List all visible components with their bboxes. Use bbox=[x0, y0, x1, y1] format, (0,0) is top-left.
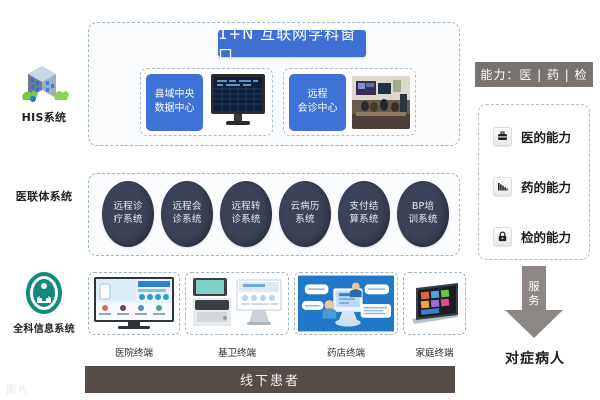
diagram-canvas: HIS系统 医联体系统 全科信息系统 1+N 互联网学科窗口 县域中央 数据中心 bbox=[0, 0, 600, 400]
rail-item-his: HIS系统 bbox=[2, 58, 86, 125]
bar-chart-icon bbox=[493, 177, 512, 196]
kiosk-and-monitor-photo bbox=[189, 276, 285, 332]
hospital-building-icon bbox=[18, 58, 70, 104]
capability-header: 能力：医 | 药 | 检 bbox=[475, 62, 593, 87]
rail-label-alliance: 医联体系统 bbox=[2, 188, 86, 204]
terminal-thumb-hospital[interactable] bbox=[88, 272, 180, 335]
terminal-thumb-primary-care[interactable] bbox=[185, 272, 289, 335]
rail-item-alliance: 医联体系统 bbox=[2, 188, 86, 204]
system-ellipse-6[interactable]: BP培 训系统 bbox=[397, 181, 449, 247]
rail-item-gp: 全科信息系统 bbox=[2, 272, 86, 335]
terminal-label-pharmacy: 药店终端 bbox=[294, 345, 398, 359]
monitor-illustration bbox=[209, 72, 267, 133]
rail-label-his: HIS系统 bbox=[2, 109, 86, 125]
watermark: 图片 bbox=[6, 381, 30, 396]
capability-item-lab[interactable]: 检的能力 bbox=[493, 227, 571, 246]
service-arrow-label-1: 服 bbox=[501, 281, 567, 293]
terminal-label-primary-care: 基卫终端 bbox=[185, 345, 289, 359]
system-ellipse-5[interactable]: 支付结 算系统 bbox=[338, 181, 390, 247]
capability-item-medical[interactable]: 医的能力 bbox=[493, 127, 571, 146]
terminal-thumb-home[interactable] bbox=[403, 272, 466, 335]
his-tile-remote-consult: 远程 会诊中心 bbox=[283, 68, 416, 136]
capability-label-lab: 检的能力 bbox=[521, 227, 571, 246]
terminal-thumb-pharmacy[interactable] bbox=[294, 272, 398, 335]
capability-label-pharmacy: 药的能力 bbox=[521, 177, 571, 196]
general-practice-ring-icon bbox=[24, 272, 64, 316]
lock-icon bbox=[493, 227, 512, 246]
system-ellipse-3[interactable]: 远程转 诊系统 bbox=[220, 181, 272, 247]
tv-health-screen-photo bbox=[92, 276, 176, 331]
terminal-label-hospital: 医院终端 bbox=[88, 345, 180, 359]
his-tile-data-center: 县域中央 数据中心 bbox=[140, 68, 273, 136]
rail-label-gp: 全科信息系统 bbox=[2, 320, 86, 335]
terminal-label-home: 家庭终端 bbox=[403, 345, 466, 359]
system-ellipse-2[interactable]: 远程会 诊系统 bbox=[161, 181, 213, 247]
system-ellipse-1[interactable]: 远程诊 疗系统 bbox=[102, 181, 154, 247]
briefcase-icon bbox=[493, 127, 512, 146]
tablet-device-photo bbox=[406, 279, 464, 329]
conference-room-photo bbox=[352, 76, 410, 129]
remote-consult-label: 远程 会诊中心 bbox=[289, 74, 346, 131]
offline-patients-bar: 线下患者 bbox=[85, 366, 455, 393]
system-ellipse-4[interactable]: 云病历 系统 bbox=[279, 181, 331, 247]
target-patients-label: 对症病人 bbox=[480, 348, 590, 368]
data-center-label: 县域中央 数据中心 bbox=[146, 74, 203, 131]
service-arrow-label-2: 务 bbox=[501, 295, 567, 307]
title-banner: 1+N 互联网学科窗口 bbox=[218, 30, 366, 57]
pharmacy-workflow-illustration bbox=[298, 275, 394, 332]
capability-item-pharmacy[interactable]: 药的能力 bbox=[493, 177, 571, 196]
capability-label-medical: 医的能力 bbox=[521, 127, 571, 146]
